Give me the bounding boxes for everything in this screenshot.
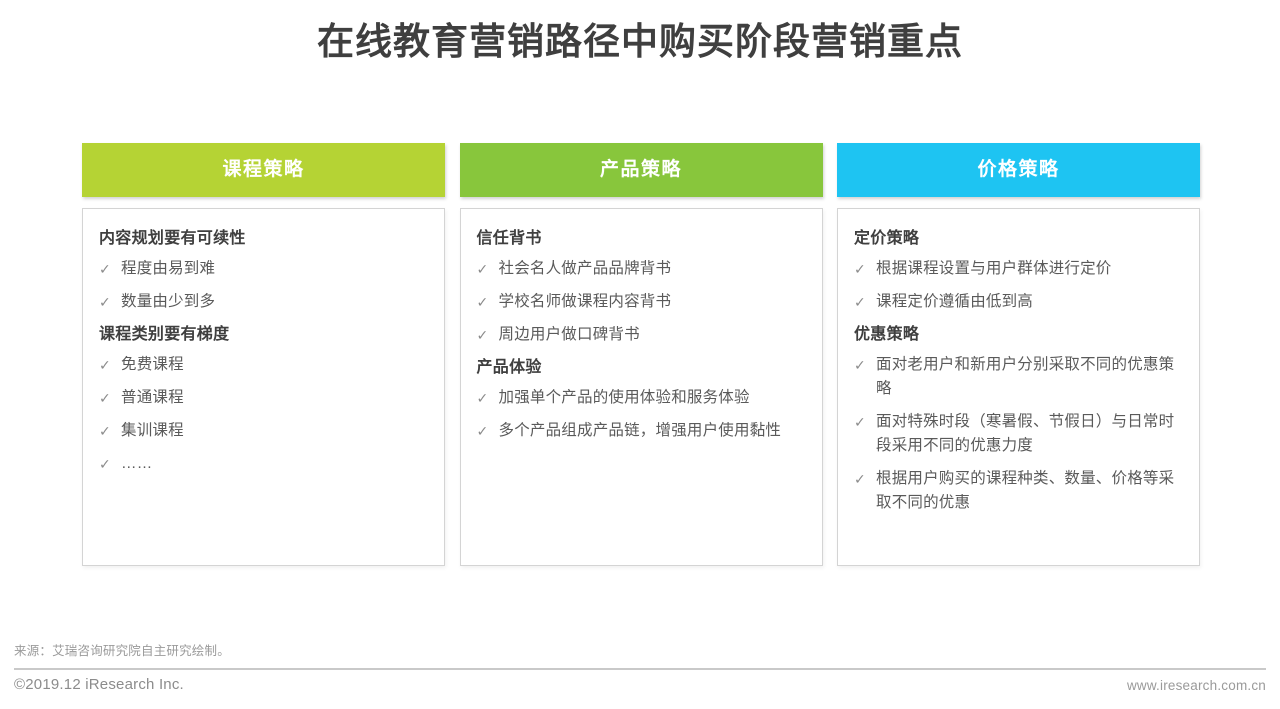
list-item: ✓ 社会名人做产品品牌背书 (477, 257, 806, 281)
list-item-label: 学校名师做课程内容背书 (499, 290, 806, 314)
strategy-column-course: 课程策略 内容规划要有可续性 ✓ 程度由易到难 ✓ 数量由少到多 课程类别要有梯… (82, 143, 445, 566)
column-header-course[interactable]: 课程策略 (82, 143, 445, 197)
list-item-label: 集训课程 (121, 419, 428, 443)
group-title: 定价策略 (854, 227, 1183, 250)
group-course-category: 课程类别要有梯度 ✓ 免费课程 ✓ 普通课程 ✓ 集训课程 ✓ …… (99, 323, 428, 476)
page-title: 在线教育营销路径中购买阶段营销重点 (0, 14, 1280, 70)
check-icon: ✓ (477, 386, 499, 410)
check-icon: ✓ (99, 419, 121, 443)
list-item: ✓ 课程定价遵循由低到高 (854, 290, 1183, 314)
check-icon: ✓ (99, 452, 121, 476)
list-item-label: 面对老用户和新用户分别采取不同的优惠策略 (876, 353, 1183, 401)
list-item-label: 数量由少到多 (121, 290, 428, 314)
list-item: ✓ 加强单个产品的使用体验和服务体验 (477, 386, 806, 410)
list-item-label: 免费课程 (121, 353, 428, 377)
check-icon: ✓ (854, 353, 876, 377)
strategy-column-product: 产品策略 信任背书 ✓ 社会名人做产品品牌背书 ✓ 学校名师做课程内容背书 ✓ … (460, 143, 823, 566)
group-trust-endorsement: 信任背书 ✓ 社会名人做产品品牌背书 ✓ 学校名师做课程内容背书 ✓ 周边用户做… (477, 227, 806, 347)
source-note: 来源：艾瑞咨询研究院自主研究绘制。 (14, 640, 230, 659)
check-icon: ✓ (477, 257, 499, 281)
list-item: ✓ …… (99, 452, 428, 476)
list-item-label: 根据用户购买的课程种类、数量、价格等采取不同的优惠 (876, 467, 1183, 515)
list-item: ✓ 程度由易到难 (99, 257, 428, 281)
column-header-product[interactable]: 产品策略 (460, 143, 823, 197)
column-header-price[interactable]: 价格策略 (837, 143, 1200, 197)
copyright-label: ©2019.12 iResearch Inc. (14, 676, 184, 693)
strategy-columns: 课程策略 内容规划要有可续性 ✓ 程度由易到难 ✓ 数量由少到多 课程类别要有梯… (82, 143, 1200, 566)
group-title: 优惠策略 (854, 323, 1183, 346)
list-item: ✓ 学校名师做课程内容背书 (477, 290, 806, 314)
group-product-experience: 产品体验 ✓ 加强单个产品的使用体验和服务体验 ✓ 多个产品组成产品链，增强用户… (477, 356, 806, 443)
group-content-planning: 内容规划要有可续性 ✓ 程度由易到难 ✓ 数量由少到多 (99, 227, 428, 314)
list-item: ✓ 免费课程 (99, 353, 428, 377)
list-item-label: 根据课程设置与用户群体进行定价 (876, 257, 1183, 281)
list-item-label: 面对特殊时段（寒暑假、节假日）与日常时段采用不同的优惠力度 (876, 410, 1183, 458)
group-title: 产品体验 (477, 356, 806, 379)
check-icon: ✓ (99, 290, 121, 314)
list-item-label: 程度由易到难 (121, 257, 428, 281)
check-icon: ✓ (477, 323, 499, 347)
list-item: ✓ 周边用户做口碑背书 (477, 323, 806, 347)
footer-divider (14, 668, 1266, 670)
list-item-label: 社会名人做产品品牌背书 (499, 257, 806, 281)
list-item: ✓ 根据课程设置与用户群体进行定价 (854, 257, 1183, 281)
check-icon: ✓ (99, 257, 121, 281)
list-item: ✓ 根据用户购买的课程种类、数量、价格等采取不同的优惠 (854, 467, 1183, 515)
check-icon: ✓ (477, 290, 499, 314)
group-pricing-strategy: 定价策略 ✓ 根据课程设置与用户群体进行定价 ✓ 课程定价遵循由低到高 (854, 227, 1183, 314)
list-item: ✓ 面对老用户和新用户分别采取不同的优惠策略 (854, 353, 1183, 401)
group-title: 内容规划要有可续性 (99, 227, 428, 250)
check-icon: ✓ (854, 257, 876, 281)
list-item-label: 普通课程 (121, 386, 428, 410)
list-item: ✓ 数量由少到多 (99, 290, 428, 314)
list-item: ✓ 多个产品组成产品链，增强用户使用黏性 (477, 419, 806, 443)
check-icon: ✓ (854, 410, 876, 434)
website-label: www.iresearch.com.cn (1127, 678, 1266, 693)
check-icon: ✓ (99, 353, 121, 377)
check-icon: ✓ (99, 386, 121, 410)
column-body-product: 信任背书 ✓ 社会名人做产品品牌背书 ✓ 学校名师做课程内容背书 ✓ 周边用户做… (460, 208, 823, 566)
list-item-label: …… (121, 452, 428, 476)
group-title: 课程类别要有梯度 (99, 323, 428, 346)
list-item-label: 加强单个产品的使用体验和服务体验 (499, 386, 806, 410)
list-item-label: 周边用户做口碑背书 (499, 323, 806, 347)
check-icon: ✓ (854, 467, 876, 491)
list-item: ✓ 集训课程 (99, 419, 428, 443)
list-item-label: 课程定价遵循由低到高 (876, 290, 1183, 314)
list-item: ✓ 普通课程 (99, 386, 428, 410)
list-item: ✓ 面对特殊时段（寒暑假、节假日）与日常时段采用不同的优惠力度 (854, 410, 1183, 458)
list-item-label: 多个产品组成产品链，增强用户使用黏性 (499, 419, 806, 443)
check-icon: ✓ (477, 419, 499, 443)
check-icon: ✓ (854, 290, 876, 314)
group-discount-strategy: 优惠策略 ✓ 面对老用户和新用户分别采取不同的优惠策略 ✓ 面对特殊时段（寒暑假… (854, 323, 1183, 515)
column-body-price: 定价策略 ✓ 根据课程设置与用户群体进行定价 ✓ 课程定价遵循由低到高 优惠策略… (837, 208, 1200, 566)
column-body-course: 内容规划要有可续性 ✓ 程度由易到难 ✓ 数量由少到多 课程类别要有梯度 ✓ 免… (82, 208, 445, 566)
strategy-column-price: 价格策略 定价策略 ✓ 根据课程设置与用户群体进行定价 ✓ 课程定价遵循由低到高… (837, 143, 1200, 566)
group-title: 信任背书 (477, 227, 806, 250)
